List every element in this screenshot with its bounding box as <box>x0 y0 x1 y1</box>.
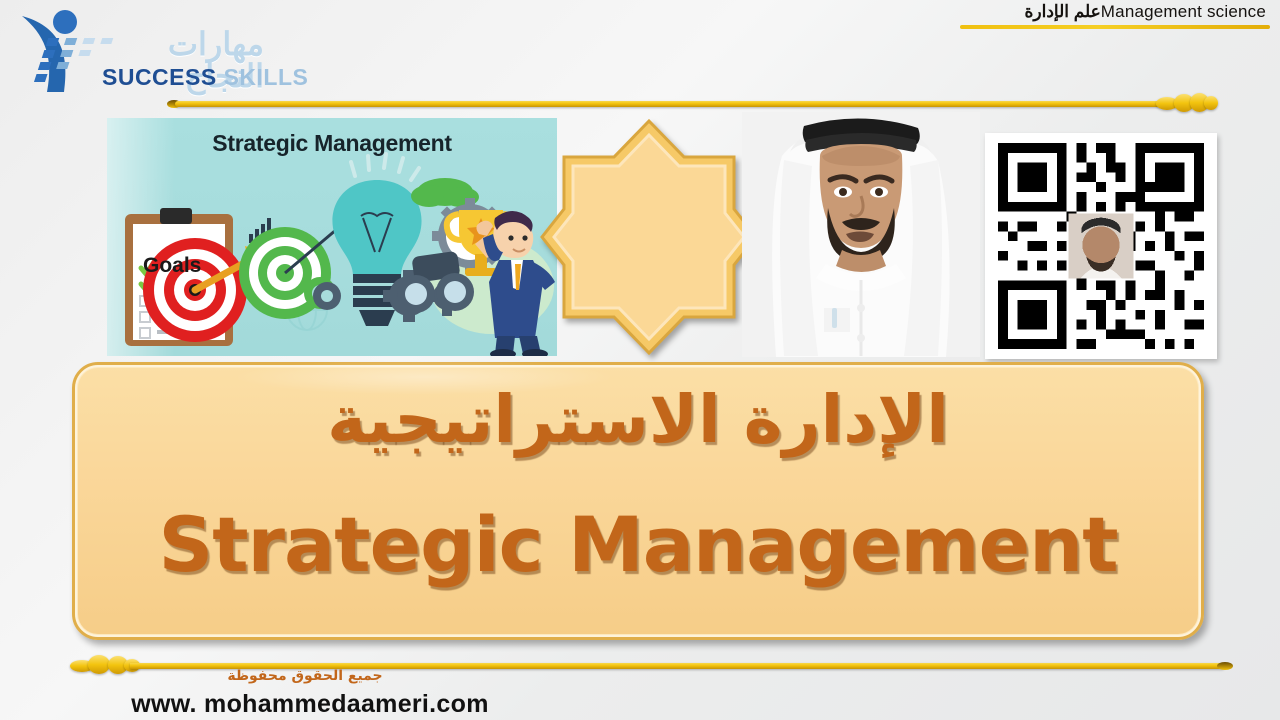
qr-center-photo <box>1069 214 1134 279</box>
main-title-english: Strategic Management <box>75 503 1201 587</box>
header-title-en: Management science <box>1101 2 1266 21</box>
eight-point-star-badge <box>538 117 760 357</box>
ribbon-right-tip <box>1217 662 1233 670</box>
header-underline <box>960 25 1270 29</box>
brand-logo[interactable]: مهارات النجاح SUCCESS SKILLS <box>14 8 264 98</box>
main-title-arabic: الإدارة الاستراتيجية <box>75 379 1201 462</box>
strategic-management-illustration: Strategic Management Goals <box>107 118 557 356</box>
main-title-panel: الإدارة الاستراتيجية Strategic Managemen… <box>72 362 1204 640</box>
qr-code[interactable] <box>985 133 1217 359</box>
qr-code-matrix <box>995 143 1207 349</box>
clipboard-goals-label: Goals <box>143 252 213 278</box>
logo-label-en: SUCCESS SKILLS <box>102 66 308 89</box>
ribbon-bar <box>175 101 1160 107</box>
ribbon-flourish <box>1154 91 1218 117</box>
page-title: Management scienceعلم الإدارة <box>1024 2 1266 22</box>
top-decorative-ribbon <box>175 93 1160 115</box>
logo-label-skills: SKILLS <box>224 64 309 90</box>
instructor-portrait <box>742 112 980 357</box>
slide-canvas: Management scienceعلم الإدارة <box>0 0 1280 720</box>
svg-text:Goals: Goals <box>143 254 201 277</box>
header-title-ar: علم الإدارة <box>1024 2 1100 21</box>
website-url[interactable]: www. mohammedaameri.com <box>0 690 620 719</box>
logo-label-success: SUCCESS <box>102 64 217 90</box>
illustration-title: Strategic Management <box>107 130 557 157</box>
copyright-arabic: جميع الحقوق محفوظة <box>0 668 610 684</box>
